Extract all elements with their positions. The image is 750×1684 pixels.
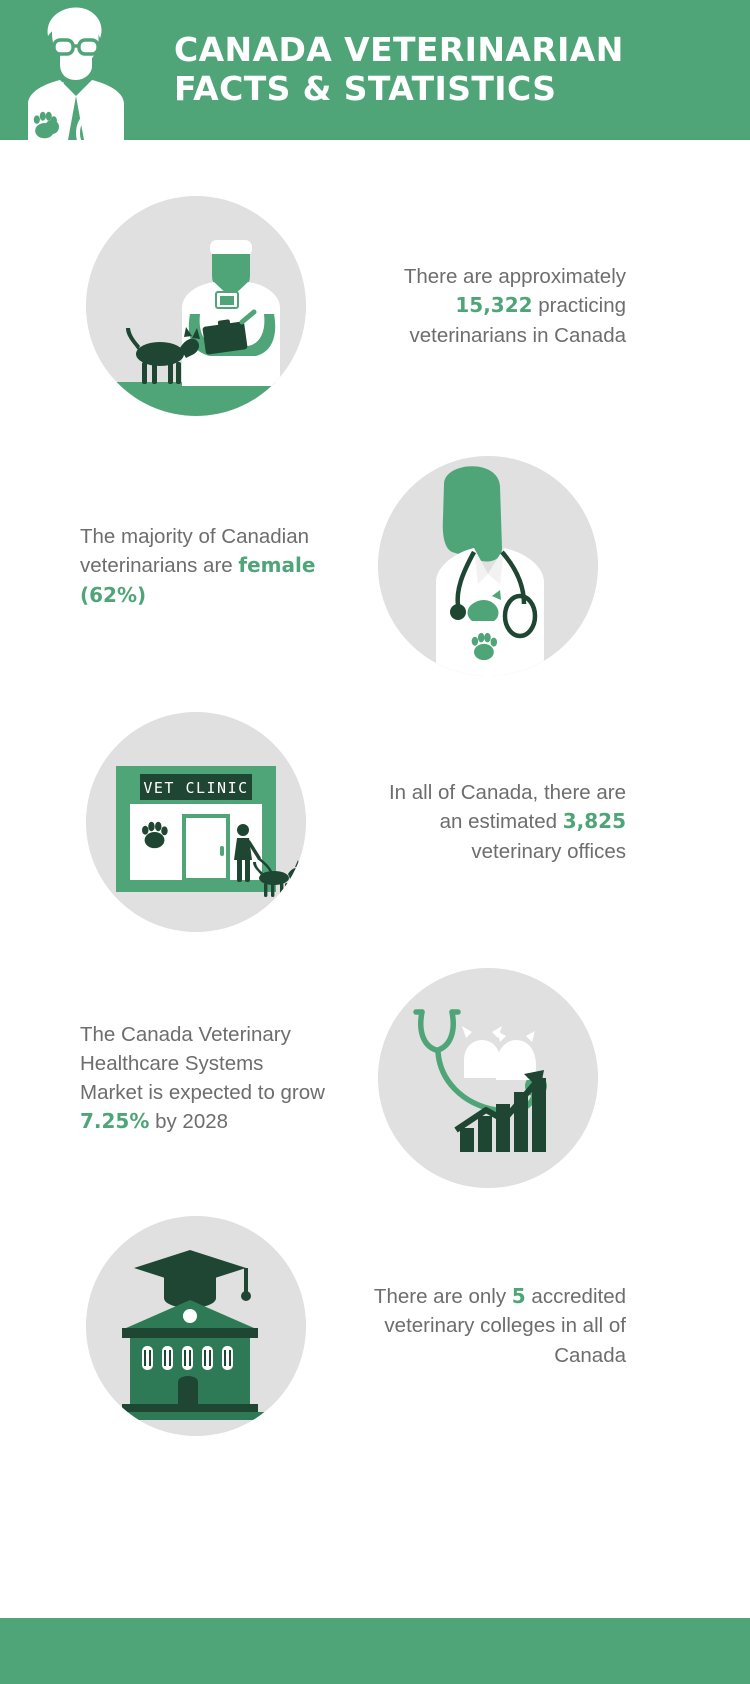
fact-row-practicing-veterinarians: There are approximately 15,322 practicin… (86, 196, 626, 416)
fact-5-value: 5 (512, 1284, 526, 1308)
female-veterinarian-with-stethoscope-illustration (378, 456, 598, 676)
fact-4-value: 7.25% (80, 1109, 149, 1133)
fact-1-seg-0: There are approximately (404, 265, 626, 288)
vet-with-clipboard-and-dog-illustration (86, 196, 306, 416)
fact-row-accredited-colleges: There are only 5 accredited veterinary c… (86, 1216, 626, 1436)
page-title-line-2: FACTS & STATISTICS (174, 70, 624, 109)
page-footer-bar (0, 1618, 750, 1684)
fact-4-seg-2: by 2028 (149, 1110, 228, 1133)
fact-3-seg-2: veterinary offices (471, 840, 626, 863)
graduation-cap-on-college-building-illustration (86, 1216, 306, 1436)
page-title-line-1: CANADA VETERINARIAN (174, 30, 624, 69)
header-veterinarian-icon (0, 0, 150, 140)
fact-text-market-growth: The Canada Veterinary Healthcare Systems… (80, 1020, 330, 1136)
page-title: CANADA VETERINARIAN FACTS & STATISTICS (174, 31, 624, 109)
fact-4-seg-0: The Canada Veterinary Healthcare Systems… (80, 1023, 325, 1104)
clinic-sign-label: VET CLINIC (143, 779, 248, 797)
fact-row-market-growth: The Canada Veterinary Healthcare Systems… (80, 968, 598, 1188)
fact-3-value: 3,825 (563, 809, 626, 833)
fact-text-female-veterinarians: The majority of Canadian veterinarians a… (80, 522, 330, 609)
fact-text-accredited-colleges: There are only 5 accredited veterinary c… (364, 1282, 626, 1369)
fact-row-female-veterinarians: The majority of Canadian veterinarians a… (80, 456, 598, 676)
fact-text-veterinary-offices: In all of Canada, there are an estimated… (364, 778, 626, 865)
fact-row-veterinary-offices: VET CLINIC (86, 712, 626, 932)
fact-text-practicing-veterinarians: There are approximately 15,322 practicin… (364, 262, 626, 349)
vet-clinic-building-with-person-and-dog-illustration: VET CLINIC (86, 712, 306, 932)
page-header: CANADA VETERINARIAN FACTS & STATISTICS (0, 0, 750, 140)
stethoscope-pets-and-growth-chart-illustration (378, 968, 598, 1188)
fact-5-seg-0: There are only (374, 1285, 512, 1308)
fact-1-value: 15,322 (455, 293, 532, 317)
